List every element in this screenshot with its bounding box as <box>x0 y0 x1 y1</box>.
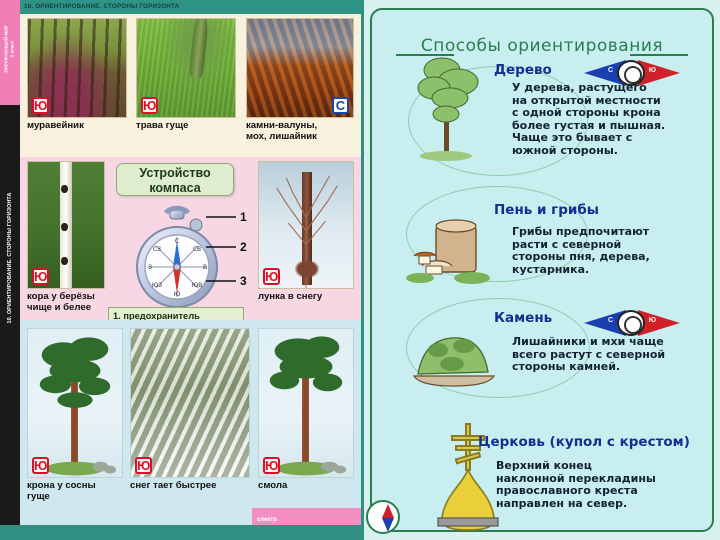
photo-caption: камни-валуны, мох, лишайник <box>246 120 354 142</box>
photo-anthill: Ю <box>27 18 127 118</box>
badge-south: Ю <box>141 97 158 114</box>
photo-boulders: С <box>246 18 354 118</box>
tree-icon <box>400 52 496 162</box>
spine-series-label: ОКРУЖАЮЩИЙ МИР 2 класс <box>4 0 16 102</box>
photo-pine-crown: Ю <box>27 328 123 478</box>
svg-text:С: С <box>175 238 179 245</box>
badge-south: Ю <box>263 457 280 474</box>
section-head-pen: Пень и грибы <box>494 202 599 218</box>
compass-leader-3: 3 <box>240 274 247 288</box>
badge-north: С <box>332 97 349 114</box>
section-body-pen: Грибы предпочитают расти с северной стор… <box>512 226 708 276</box>
badge-south: Ю <box>32 457 49 474</box>
badge-south: Ю <box>135 457 152 474</box>
photo-caption: крона у сосны гуще <box>27 480 123 502</box>
compass-label-south: Ю <box>649 317 656 324</box>
compass-title: Устройство компаса <box>116 163 234 196</box>
poster-row-2: Ю кора у берёзы чище и белее Устройство … <box>20 157 361 320</box>
section-head-cerkov: Церковь (купол с крестом) <box>478 434 690 450</box>
slide-stage: 10. ОРИЕНТИРОВАНИЕ. СТОРОНЫ ГОРИЗОНТА ОК… <box>0 0 720 540</box>
poster-row-3: Ю крона у сосны гуще Ю снег тает быстрее <box>20 320 361 525</box>
photo-caption: муравейник <box>27 120 127 131</box>
compass-leader-1: 1 <box>240 210 247 224</box>
section-head-kamen: Камень <box>494 310 552 326</box>
corner-compass-icon <box>366 500 400 534</box>
section-body-derevo: У дерева, растущего на открытой местност… <box>512 82 708 158</box>
photo-cell-kamni: С камни-валуны, мох, лишайник <box>246 18 354 142</box>
compass-hub <box>617 310 645 336</box>
poster-header: 10. ОРИЕНТИРОВАНИЕ. СТОРОНЫ ГОРИЗОНТА <box>18 0 361 14</box>
compass-leader-2: 2 <box>240 240 247 254</box>
badge-south: Ю <box>32 97 49 114</box>
photo-cell-lunka: Ю лунка в снегу <box>258 161 354 302</box>
compass-label-north: С <box>608 317 613 324</box>
svg-text:З: З <box>148 264 152 271</box>
publisher-logo-label: спектр <box>252 517 277 523</box>
photo-cell-muravejnik: Ю муравейник <box>27 18 127 131</box>
pine-tree-icon <box>28 329 122 477</box>
photo-grass: Ю <box>136 18 236 118</box>
spine-title-band: 10. ОРИЕНТИРОВАНИЕ. СТОРОНЫ ГОРИЗОНТА <box>0 105 20 525</box>
badge-south: Ю <box>32 268 49 285</box>
poster-body: Ю муравейник Ю трава гуще С камни-валуны… <box>20 14 361 525</box>
panel-right: Способы ориентирования С Ю Дерево <box>364 0 720 540</box>
poster-row-1: Ю муравейник Ю трава гуще С камни-валуны… <box>20 14 361 157</box>
spine-series-band: ОКРУЖАЮЩИЙ МИР 2 класс <box>0 0 20 105</box>
photo-melting-snow: Ю <box>130 328 250 478</box>
section-head-derevo: Дерево <box>494 62 552 78</box>
photo-caption: трава гуще <box>136 120 236 131</box>
spine-title-label: 10. ОРИЕНТИРОВАНИЕ. СТОРОНЫ ГОРИЗОНТА <box>7 145 13 371</box>
compass-label-north: С <box>608 67 613 74</box>
panel-frame: Способы ориентирования С Ю Дерево <box>370 8 714 532</box>
photo-birch: Ю <box>27 161 105 289</box>
svg-text:ЮЗ: ЮЗ <box>152 282 162 289</box>
stone-icon <box>404 316 504 390</box>
stump-mushroom-icon <box>402 208 502 286</box>
section-body-cerkov: Верхний конец наклонной перекладины прав… <box>496 460 708 510</box>
photo-cell-trava: Ю трава гуще <box>136 18 236 131</box>
badge-south: Ю <box>263 268 280 285</box>
svg-text:Ю: Ю <box>174 291 181 298</box>
photo-caption: снег тает быстрее <box>130 480 250 491</box>
photo-resin: Ю <box>258 328 354 478</box>
compass-label-south: Ю <box>649 67 656 74</box>
section-body-kamen: Лишайники и мхи чаще всего растут с севе… <box>512 336 712 374</box>
photo-caption: лунка в снегу <box>258 291 354 302</box>
svg-text:ЮВ: ЮВ <box>192 282 203 289</box>
publisher-logo: спектр <box>252 508 361 525</box>
photo-cell-sneg: Ю снег тает быстрее <box>130 328 250 491</box>
pine-tree-icon <box>259 329 353 477</box>
photo-cell-smola: Ю смола <box>258 328 354 491</box>
compass-needle-icon: С Ю <box>584 310 680 336</box>
poster-left: 10. ОРИЕНТИРОВАНИЕ. СТОРОНЫ ГОРИЗОНТА ОК… <box>0 0 361 525</box>
photo-cell-krona: Ю крона у сосны гуще <box>27 328 123 502</box>
svg-text:СЗ: СЗ <box>153 246 161 253</box>
photo-cell-bereza: Ю кора у берёзы чище и белее <box>27 161 105 313</box>
photo-caption: смола <box>258 480 354 491</box>
svg-text:СВ: СВ <box>193 246 201 253</box>
photo-caption: кора у берёзы чище и белее <box>27 291 105 313</box>
photo-snow-hole: Ю <box>258 161 354 289</box>
